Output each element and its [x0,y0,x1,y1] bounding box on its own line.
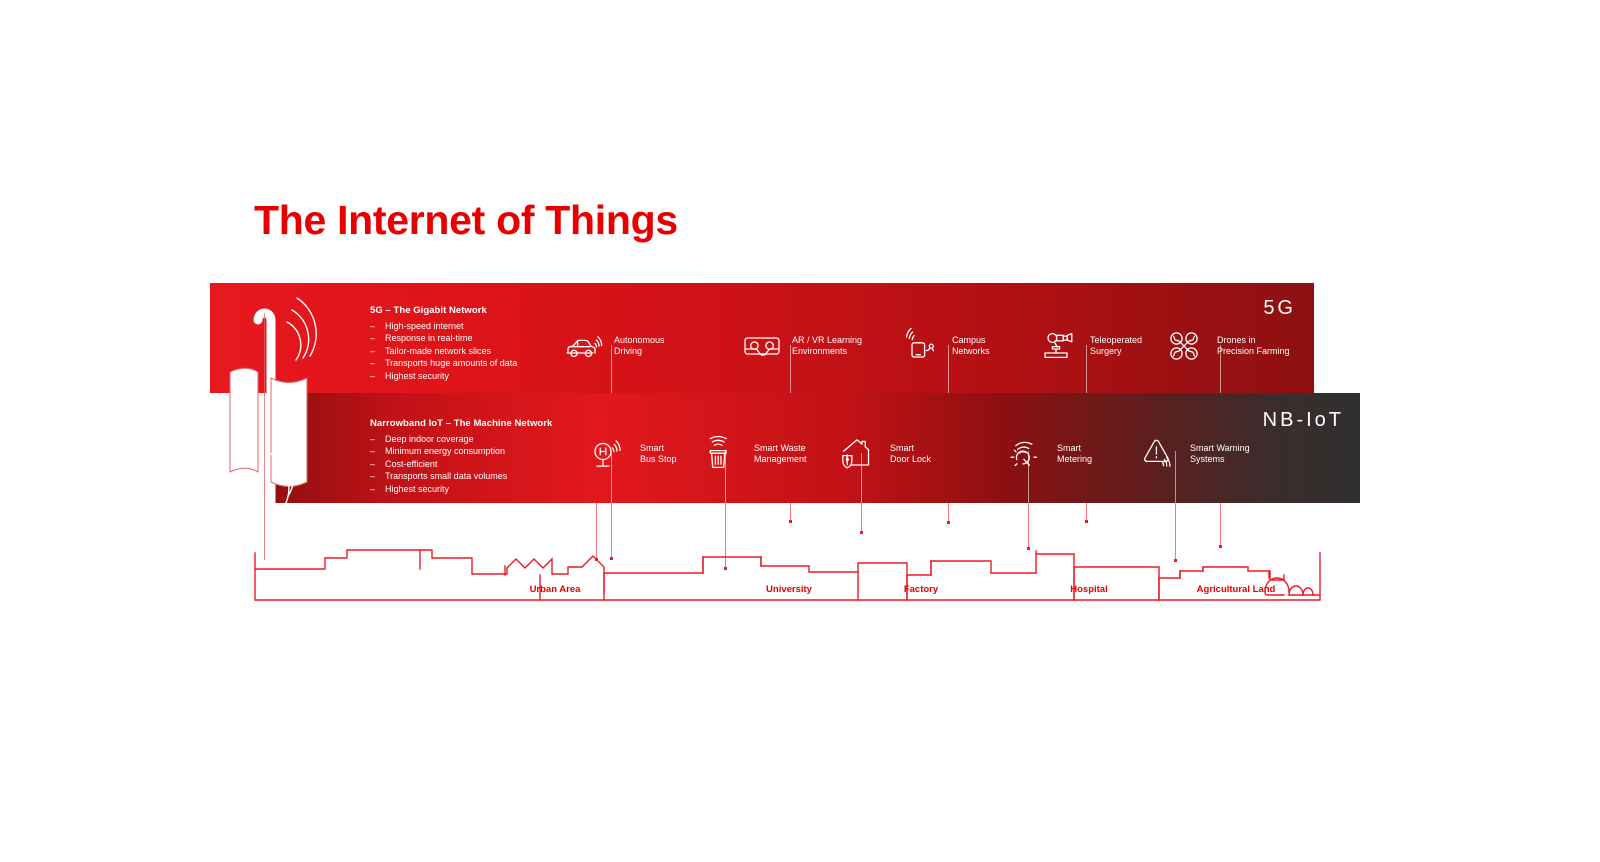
band-5g-bullet-list: High-speed internet Response in real-tim… [370,320,517,382]
node-label: Smart Warning Systems [1190,443,1250,466]
band-5g: 5G 5G – The Gigabit Network High-speed i… [210,283,1314,393]
node-label: Drones in Precision Farming [1217,335,1290,358]
node-label-line1: Smart [640,443,664,453]
connector-line [1175,451,1176,503]
band-nb-bullet: Minimum energy consumption [370,445,552,457]
node-drones-precision-farming[interactable]: Drones in Precision Farming [1165,325,1290,367]
connector-line [1220,345,1221,393]
node-label-line1: Smart [890,443,914,453]
node-label-line2: Driving [614,346,642,356]
vr-goggles-icon [740,325,786,367]
band-nb-bullet: Deep indoor coverage [370,433,552,445]
node-label: Campus Networks [952,335,990,358]
warning-triangle-wifi-icon [1138,433,1184,475]
place-label-university: University [766,584,812,595]
connector-line [1086,345,1087,393]
node-campus-networks[interactable]: Campus Networks [900,325,990,367]
band-5g-bullet: Highest security [370,370,517,382]
connector-line [948,345,949,393]
node-label-line1: Drones in [1217,335,1256,345]
node-ar-vr-learning[interactable]: AR / VR Learning Environments [740,325,862,367]
node-smart-waste-management[interactable]: Smart Waste Management [702,433,807,475]
phone-antenna-icon [900,325,946,367]
band-nb-text-block: Narrowband IoT – The Machine Network Dee… [370,418,552,495]
node-label-line1: AR / VR Learning [792,335,862,345]
band-5g-bullet: Response in real-time [370,332,517,344]
band-5g-text-block: 5G – The Gigabit Network High-speed inte… [370,305,517,382]
node-label-line1: Smart Warning [1190,443,1250,453]
node-label: Smart Bus Stop [640,443,677,466]
node-smart-bus-stop[interactable]: Smart Bus Stop [588,433,677,475]
node-label-line1: Smart [1057,443,1081,453]
band-5g-bullet: Transports huge amounts of data [370,357,517,369]
node-teleoperated-surgery[interactable]: Teleoperated Surgery [1038,325,1142,367]
node-label-line2: Surgery [1090,346,1122,356]
page-title: The Internet of Things [254,198,678,243]
car-wifi-icon [562,325,608,367]
node-label-line2: Bus Stop [640,454,677,464]
band-5g-heading: 5G – The Gigabit Network [370,305,517,316]
node-smart-metering[interactable]: Smart Metering [1005,433,1092,475]
node-label-line2: Metering [1057,454,1092,464]
node-label-line1: Smart Waste [754,443,806,453]
band-nb-bullet-list: Deep indoor coverage Minimum energy cons… [370,433,552,495]
band-nb-heading: Narrowband IoT – The Machine Network [370,418,552,429]
place-label-factory: Factory [904,584,938,595]
place-label-agricultural-land: Agricultural Land [1197,584,1276,595]
band-nb-bullet: Highest security [370,483,552,495]
place-label-urban-area: Urban Area [530,584,581,595]
node-label: AR / VR Learning Environments [792,335,862,358]
band-nb-bullet: Cost-efficient [370,458,552,470]
node-label-line2: Precision Farming [1217,346,1290,356]
connector-line [790,345,791,393]
node-label-line2: Environments [792,346,847,356]
badge-nb-iot: NB-IoT [1263,409,1344,432]
node-smart-warning-systems[interactable]: Smart Warning Systems [1138,433,1250,475]
connector-line [611,345,612,393]
node-label: Smart Door Lock [890,443,931,466]
node-label: Autonomous Driving [614,335,665,358]
node-label-line2: Management [754,454,807,464]
node-label-line2: Networks [952,346,990,356]
node-label-line2: Door Lock [890,454,931,464]
node-label: Smart Metering [1057,443,1092,466]
place-label-hospital: Hospital [1070,584,1107,595]
node-label-line1: Campus [952,335,986,345]
node-label-line2: Systems [1190,454,1225,464]
drone-icon [1165,325,1211,367]
connector-line [725,451,726,503]
band-nb-iot: NB-IoT Narrowband IoT – The Machine Netw… [270,393,1360,503]
robot-arm-icon [1038,325,1084,367]
node-label: Smart Waste Management [754,443,807,466]
connector-line [861,453,862,503]
band-nb-bullet: Transports small data volumes [370,470,552,482]
badge-5g: 5G [1263,297,1296,320]
node-label-line1: Autonomous [614,335,665,345]
connector-line [611,453,612,503]
node-autonomous-driving[interactable]: Autonomous Driving [562,325,665,367]
node-smart-door-lock[interactable]: Smart Door Lock [838,433,931,475]
infographic-canvas: The Internet of Things 5G 5G – The Gigab… [0,0,1600,862]
connector-line [1028,451,1029,503]
band-5g-bullet: High-speed internet [370,320,517,332]
band-5g-bullet: Tailor-made network slices [370,345,517,357]
node-label: Teleoperated Surgery [1090,335,1142,358]
node-label-line1: Teleoperated [1090,335,1142,345]
